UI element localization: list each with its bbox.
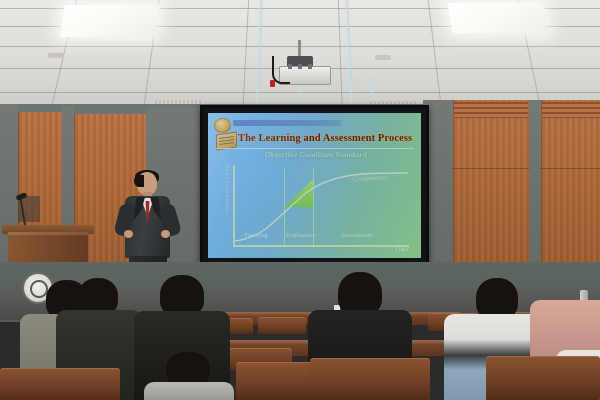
ceiling-light-left xyxy=(59,5,160,37)
projector-foot-b xyxy=(298,64,302,69)
presentation-photo: The Learning and Assessment Process Obje… xyxy=(0,0,600,400)
presenter-hair-side xyxy=(134,175,144,187)
chart-x-axis-label: TIME xyxy=(395,247,410,253)
chart-category-evaluation: Evaluation xyxy=(286,232,316,239)
projector-foot-c xyxy=(308,64,312,69)
audience-head-4 xyxy=(166,352,210,386)
chair-front-4 xyxy=(486,356,600,400)
wood-panel-4 xyxy=(541,100,600,275)
chart-y-axis-label: COMPETENCE LEVEL xyxy=(225,169,230,215)
slide-title: The Learning and Assessment Process xyxy=(238,132,416,145)
wood-seam-3 xyxy=(453,168,529,169)
chair-back-2 xyxy=(258,317,306,334)
wood-slats-4 xyxy=(542,102,600,118)
slide-title-rule xyxy=(216,148,414,149)
wood-slats-3 xyxy=(454,102,528,118)
podium-edge-highlight xyxy=(8,232,88,235)
presenter-hand-right xyxy=(161,230,170,238)
slide-content: The Learning and Assessment Process Obje… xyxy=(208,113,421,258)
slide-subtitle: Objective Condition Standard xyxy=(220,151,412,160)
wall-pillar-5 xyxy=(529,100,541,275)
wood-panel-3 xyxy=(453,100,531,275)
projector-indicator-icon xyxy=(270,80,275,87)
audience-body-4 xyxy=(144,382,234,400)
chart-category-assessment: Assessment xyxy=(340,232,373,239)
chair-front-1 xyxy=(0,368,120,400)
wood-seam-4 xyxy=(541,168,600,169)
presenter-hand-left xyxy=(124,230,133,238)
slide-org-header xyxy=(233,120,341,126)
ceiling-vent-left xyxy=(48,53,64,58)
audience-person-4 xyxy=(148,352,228,400)
slide-seal-logo-icon xyxy=(214,118,231,133)
ceiling-light-right xyxy=(448,3,548,33)
projection-screen: The Learning and Assessment Process Obje… xyxy=(200,105,429,266)
chair-front-3 xyxy=(310,358,430,400)
ceiling-vent-right xyxy=(375,55,391,60)
chart-category-training: Training xyxy=(244,232,268,239)
slide-chart: COMPETENCE LEVEL Training Evaluation Ass… xyxy=(222,165,412,251)
